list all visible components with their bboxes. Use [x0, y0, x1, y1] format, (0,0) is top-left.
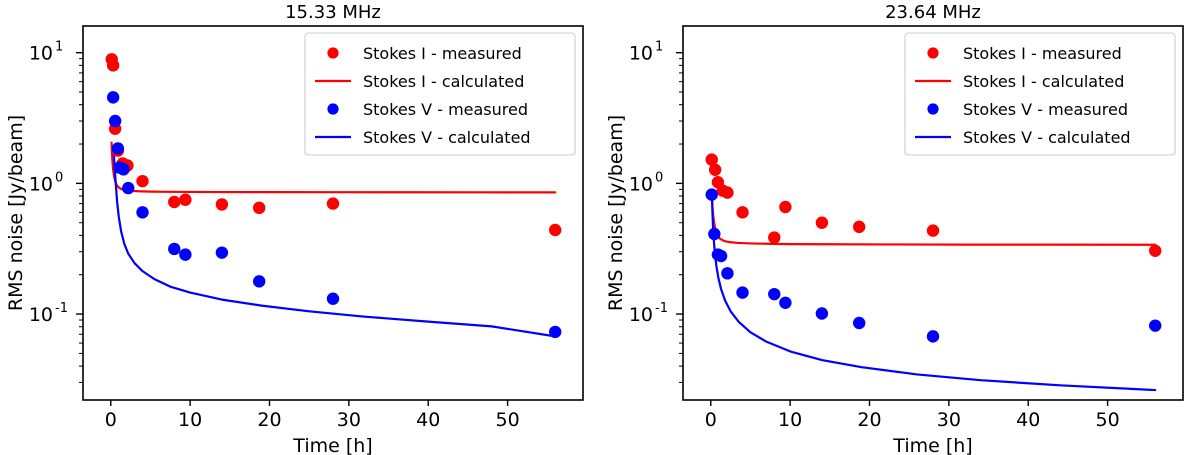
legend-item-label: Stokes V - calculated — [363, 128, 531, 147]
data-point — [927, 330, 939, 342]
svg-text:10: 10 — [629, 43, 653, 65]
data-point — [779, 297, 791, 309]
y-axis-label: RMS noise [Jy/beam] — [5, 115, 27, 311]
data-point — [107, 59, 119, 71]
legend-item-label: Stokes V - calculated — [963, 128, 1131, 147]
x-axis-label: Time [h] — [292, 435, 372, 455]
data-point — [736, 286, 748, 298]
x-tick-label: 0 — [105, 409, 117, 431]
legend-item-label: Stokes V - measured — [363, 100, 528, 119]
svg-text:10: 10 — [629, 173, 653, 195]
data-point — [1149, 319, 1161, 331]
x-tick-label: 40 — [416, 409, 440, 431]
x-tick-label: 10 — [178, 409, 202, 431]
data-point — [107, 91, 119, 103]
x-tick-label: 0 — [705, 409, 717, 431]
plot-svg-right: 23.64 MHz0102030405010110010-1Time [h]RM… — [600, 0, 1200, 455]
data-point — [168, 196, 180, 208]
svg-text:-1: -1 — [55, 301, 68, 316]
data-point — [715, 250, 727, 262]
data-point — [853, 317, 865, 329]
data-point — [816, 307, 828, 319]
y-tick-label: 10-1 — [629, 301, 668, 326]
svg-text:10: 10 — [29, 304, 53, 326]
plot-panel-left: 15.33 MHz0102030405010110010-1Time [h]RM… — [0, 0, 600, 455]
data-point — [549, 326, 561, 338]
x-tick-label: 20 — [857, 409, 881, 431]
data-point — [112, 142, 124, 154]
x-tick-label: 40 — [1016, 409, 1040, 431]
data-point — [768, 288, 780, 300]
data-point — [179, 194, 191, 206]
x-tick-label: 50 — [1096, 409, 1120, 431]
data-point — [253, 275, 265, 287]
svg-text:1: 1 — [55, 40, 63, 55]
data-point — [768, 231, 780, 243]
y-tick-label: 101 — [629, 40, 663, 65]
data-point — [327, 293, 339, 305]
data-point — [721, 267, 733, 279]
data-point — [117, 163, 129, 175]
data-point — [136, 175, 148, 187]
panel-title: 15.33 MHz — [285, 2, 381, 23]
svg-text:0: 0 — [55, 170, 63, 185]
data-point — [109, 115, 121, 127]
legend-item-label: Stokes V - measured — [963, 100, 1128, 119]
data-point — [216, 198, 228, 210]
legend-item-label: Stokes I - measured — [363, 44, 522, 63]
svg-text:10: 10 — [29, 173, 53, 195]
data-point — [709, 164, 721, 176]
panel-title: 23.64 MHz — [885, 2, 981, 23]
data-point — [779, 201, 791, 213]
data-point — [122, 182, 134, 194]
legend-marker-icon — [927, 103, 938, 114]
legend-marker-icon — [327, 103, 338, 114]
svg-text:1: 1 — [655, 40, 663, 55]
y-tick-label: 100 — [629, 170, 663, 195]
plot-panel-right: 23.64 MHz0102030405010110010-1Time [h]RM… — [600, 0, 1200, 455]
x-tick-label: 30 — [937, 409, 961, 431]
legend-item-label: Stokes I - measured — [963, 44, 1122, 63]
x-tick-label: 10 — [778, 409, 802, 431]
y-tick-label: 101 — [29, 40, 63, 65]
legend-item-label: Stokes I - calculated — [363, 72, 524, 91]
svg-text:-1: -1 — [655, 301, 668, 316]
data-point — [168, 243, 180, 255]
data-point — [216, 246, 228, 258]
legend-marker-icon — [327, 47, 338, 58]
x-tick-label: 30 — [337, 409, 361, 431]
y-tick-label: 100 — [29, 170, 63, 195]
data-point — [1149, 245, 1161, 257]
svg-text:0: 0 — [655, 170, 663, 185]
data-point — [706, 188, 718, 200]
legend-item-label: Stokes I - calculated — [963, 72, 1124, 91]
data-point — [853, 221, 865, 233]
x-tick-label: 20 — [257, 409, 281, 431]
data-point — [816, 217, 828, 229]
data-point — [736, 206, 748, 218]
svg-text:10: 10 — [629, 304, 653, 326]
plot-svg-left: 15.33 MHz0102030405010110010-1Time [h]RM… — [0, 0, 600, 455]
data-point — [708, 228, 720, 240]
data-point — [549, 224, 561, 236]
data-point — [253, 202, 265, 214]
x-tick-label: 50 — [496, 409, 520, 431]
y-axis-label: RMS noise [Jy/beam] — [605, 115, 627, 311]
data-point — [136, 206, 148, 218]
y-tick-label: 10-1 — [29, 301, 68, 326]
data-point — [721, 186, 733, 198]
data-point — [927, 224, 939, 236]
data-point — [179, 248, 191, 260]
svg-text:10: 10 — [29, 43, 53, 65]
figure-canvas: 15.33 MHz0102030405010110010-1Time [h]RM… — [0, 0, 1200, 455]
legend-marker-icon — [927, 47, 938, 58]
x-axis-label: Time [h] — [892, 435, 972, 455]
data-point — [327, 197, 339, 209]
